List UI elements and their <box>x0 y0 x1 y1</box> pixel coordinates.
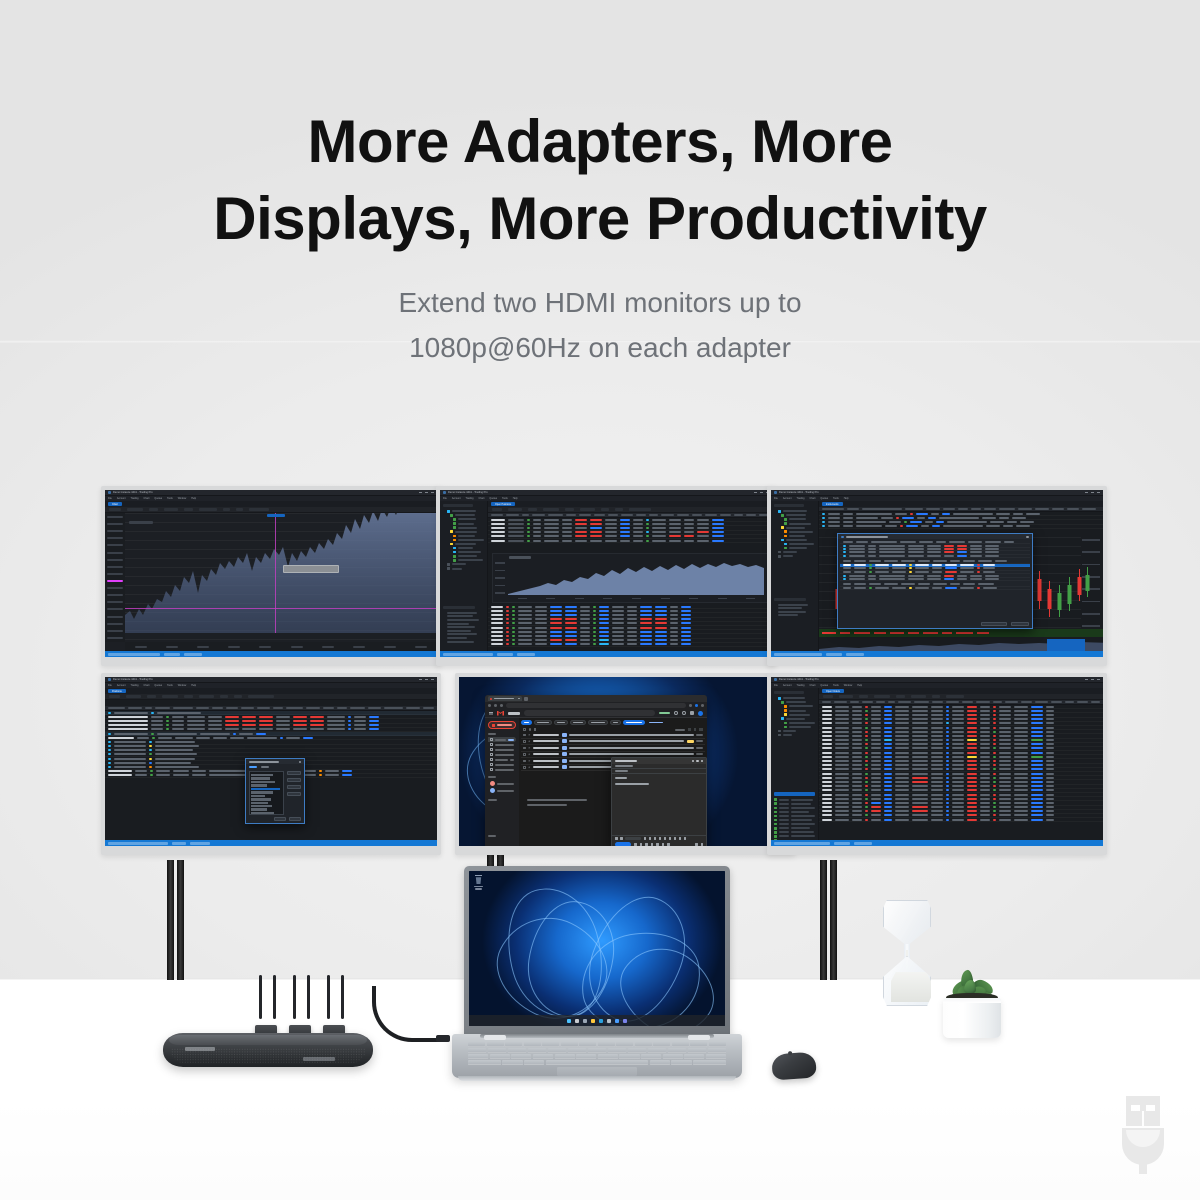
prop-row <box>443 612 484 614</box>
dialog-side-buttons[interactable] <box>287 771 301 815</box>
filter-chip-row[interactable] <box>521 720 705 725</box>
tree-item[interactable] <box>443 551 484 554</box>
tree-item[interactable] <box>774 734 815 737</box>
chat-contact[interactable] <box>488 780 516 787</box>
gmail-sidebar[interactable] <box>485 718 519 846</box>
workspace[interactable]: Open Positions <box>440 501 772 651</box>
start-icon[interactable] <box>567 1019 571 1023</box>
menu-quotes[interactable]: Quotes <box>820 497 828 500</box>
tree-item[interactable] <box>443 514 484 517</box>
positions-table-lower[interactable] <box>488 605 772 647</box>
key[interactable] <box>524 1060 544 1065</box>
apps-grid-icon[interactable] <box>690 711 694 715</box>
key[interactable] <box>568 1048 586 1053</box>
fields-listbox[interactable] <box>249 771 284 815</box>
list-item[interactable] <box>251 774 273 776</box>
chart-plot[interactable] <box>125 513 437 642</box>
navigator-panel[interactable] <box>771 501 819 651</box>
table-row[interactable] <box>819 525 1103 529</box>
list-item[interactable] <box>251 802 268 804</box>
keyboard-row[interactable] <box>468 1042 726 1047</box>
window-controls[interactable] <box>1085 679 1100 680</box>
help-icon[interactable] <box>674 711 678 715</box>
tree-item[interactable] <box>443 518 484 521</box>
status-bar <box>771 651 1103 657</box>
menu-file[interactable]: File <box>108 684 112 687</box>
menu-account[interactable]: Account <box>117 497 126 500</box>
chat-contact[interactable] <box>488 787 516 794</box>
remove-button[interactable] <box>287 778 301 782</box>
tree-item[interactable] <box>443 559 484 562</box>
compose-button[interactable] <box>488 721 516 729</box>
log-row[interactable] <box>774 827 815 830</box>
menu-trading[interactable]: Trading <box>797 684 805 687</box>
tab-open-orders[interactable]: Open Orders <box>822 689 844 693</box>
menu-quotes[interactable]: Quotes <box>489 497 497 500</box>
search-input[interactable] <box>524 710 655 716</box>
crosshair-horizontal <box>125 608 437 609</box>
key[interactable] <box>709 1042 726 1047</box>
key[interactable] <box>468 1048 486 1053</box>
table-row[interactable] <box>488 539 772 543</box>
orders-table-panel[interactable] <box>105 700 437 840</box>
browser-tab-bar[interactable] <box>485 695 707 702</box>
usb-connector-icon <box>1106 1094 1180 1178</box>
prop-row <box>774 614 815 616</box>
menu-help[interactable]: Help <box>191 684 196 687</box>
compose-body[interactable] <box>612 774 706 788</box>
log-row[interactable] <box>774 802 815 805</box>
equity-area-series <box>508 561 764 595</box>
browser-tab-gmail[interactable] <box>488 696 522 701</box>
tree-item[interactable] <box>774 522 815 525</box>
group-summary-dialog[interactable] <box>245 758 305 824</box>
menu-trading[interactable]: Trading <box>797 497 805 500</box>
key[interactable] <box>548 1048 566 1053</box>
next-page-icon[interactable] <box>694 728 697 731</box>
table-row[interactable] <box>488 643 772 647</box>
key[interactable] <box>490 1054 510 1059</box>
monitor-bottom-left[interactable]: Demo Instance 4441 - Trading Pro File Ac… <box>101 673 441 855</box>
monitor-top-left[interactable]: Demo Instance 4441 - Trading Pro File Ac… <box>101 486 441 666</box>
windows-taskbar[interactable] <box>469 1015 725 1026</box>
tree-item[interactable] <box>774 722 815 725</box>
navigator-panel[interactable] <box>771 688 819 840</box>
underline-icon <box>659 837 662 840</box>
trading-window-tc: Demo Instance 4441 - Trading Pro File Ac… <box>440 490 772 657</box>
log-row[interactable] <box>774 835 815 838</box>
tree-item[interactable] <box>774 705 815 708</box>
spacebar[interactable] <box>546 1060 648 1065</box>
tree-item[interactable] <box>774 530 815 533</box>
tree-item[interactable] <box>443 535 484 538</box>
key[interactable] <box>641 1054 661 1059</box>
monitor-top-right-screen[interactable]: Demo Instance 4441 - Trading Pro File Ac… <box>771 490 1103 657</box>
orders-grid[interactable] <box>819 700 1103 822</box>
menu-file[interactable]: File <box>108 497 112 500</box>
key[interactable] <box>576 1054 596 1059</box>
tree-item[interactable] <box>774 535 815 538</box>
instruments-table[interactable] <box>819 507 1103 529</box>
keyboard-row[interactable] <box>468 1054 726 1059</box>
tree-item[interactable] <box>443 530 484 533</box>
list-item[interactable] <box>251 777 270 779</box>
mouse[interactable] <box>771 1051 817 1080</box>
hdmi-cable <box>307 975 310 1019</box>
key[interactable] <box>684 1054 704 1059</box>
tree-item[interactable] <box>774 551 815 554</box>
monitor-top-center[interactable]: Demo Instance 4441 - Trading Pro File Ac… <box>436 486 776 666</box>
key[interactable] <box>650 1060 670 1065</box>
key[interactable] <box>468 1054 488 1059</box>
key[interactable] <box>528 1048 546 1053</box>
store-icon[interactable] <box>607 1019 611 1023</box>
tree-item[interactable] <box>774 543 815 546</box>
positions-panel[interactable]: Open Positions <box>488 501 772 651</box>
tree-item[interactable] <box>774 526 815 529</box>
add-button[interactable] <box>287 771 301 775</box>
orders-area[interactable] <box>105 700 437 840</box>
monitor-top-right[interactable]: Demo Instance 4441 - Trading Pro File Ac… <box>767 486 1107 666</box>
chip-check-accounts[interactable] <box>534 720 552 725</box>
key[interactable] <box>598 1042 615 1047</box>
tree-item[interactable] <box>443 567 484 570</box>
list-item[interactable] <box>251 781 275 783</box>
laptop-trackpad[interactable] <box>557 1067 637 1076</box>
tab-fields[interactable] <box>249 766 257 768</box>
monitor-bottom-center-screen[interactable] <box>459 677 791 846</box>
settings-gear-icon[interactable] <box>682 711 686 715</box>
menu-file[interactable]: File <box>774 684 778 687</box>
key[interactable] <box>672 1042 689 1047</box>
equity-chart-panel[interactable] <box>492 553 768 603</box>
key[interactable] <box>508 1048 526 1053</box>
gmail-brand-label <box>508 712 520 715</box>
tree-item[interactable] <box>774 514 815 517</box>
send-button[interactable] <box>615 842 631 846</box>
menu-trading[interactable]: Trading <box>466 497 474 500</box>
instrument-panel[interactable]: Instruments <box>819 501 1103 651</box>
chip-has-attachment[interactable] <box>588 720 608 725</box>
event-log[interactable] <box>774 798 815 846</box>
sidebar-item-more[interactable] <box>488 767 516 772</box>
list-item[interactable] <box>251 808 267 810</box>
window-controls[interactable] <box>419 492 434 493</box>
recycle-bin-icon[interactable] <box>474 875 483 890</box>
tree-item[interactable] <box>774 717 815 720</box>
reload-icon[interactable] <box>500 704 503 707</box>
tree-item[interactable] <box>774 518 815 521</box>
log-row[interactable] <box>774 819 815 822</box>
chip-all[interactable] <box>521 720 532 725</box>
menu-tools[interactable]: Tools <box>167 684 173 687</box>
lock-icon <box>662 843 665 846</box>
menu-quotes[interactable]: Quotes <box>154 684 162 687</box>
prop-row <box>443 619 484 621</box>
key[interactable] <box>542 1042 559 1047</box>
key[interactable] <box>511 1054 531 1059</box>
key[interactable] <box>688 1048 706 1053</box>
cancel-button[interactable] <box>1011 622 1029 626</box>
menu-account[interactable]: Account <box>783 684 792 687</box>
key[interactable] <box>668 1048 686 1053</box>
menu-window[interactable]: Window <box>844 684 853 687</box>
tree-item[interactable] <box>443 510 484 513</box>
menu-chart[interactable]: Chart <box>144 497 150 500</box>
font-size-icon <box>644 837 647 840</box>
key[interactable] <box>693 1060 726 1065</box>
tree-item[interactable] <box>774 510 815 513</box>
list-item-selected[interactable] <box>251 788 280 791</box>
menu-window[interactable]: Window <box>178 497 187 500</box>
tree-item[interactable] <box>443 539 484 542</box>
new-tab-button[interactable] <box>524 697 528 701</box>
key[interactable] <box>579 1042 596 1047</box>
monitor-bottom-left-screen[interactable]: Demo Instance 4441 - Trading Pro File Ac… <box>105 677 437 846</box>
log-row[interactable] <box>774 798 815 801</box>
large-options-dialog[interactable] <box>837 533 1033 629</box>
key[interactable] <box>588 1048 606 1053</box>
key[interactable] <box>533 1054 553 1059</box>
log-row[interactable] <box>774 831 815 834</box>
chart-canvas[interactable] <box>105 513 437 651</box>
dialog-row[interactable] <box>840 587 1030 591</box>
key[interactable] <box>468 1042 485 1047</box>
key[interactable] <box>628 1048 646 1053</box>
menu-file[interactable]: File <box>774 497 778 500</box>
key[interactable] <box>708 1048 726 1053</box>
chip-archive[interactable] <box>570 720 586 725</box>
monitor-top-center-screen[interactable]: Demo Instance 4441 - Trading Pro File Ac… <box>440 490 772 657</box>
key[interactable] <box>468 1060 501 1065</box>
teams-icon[interactable] <box>623 1019 627 1023</box>
menu-account[interactable]: Account <box>117 684 126 687</box>
key[interactable] <box>671 1060 691 1065</box>
key[interactable] <box>648 1048 666 1053</box>
menu-tools[interactable]: Tools <box>833 497 839 500</box>
usb-c-connector <box>436 1035 450 1042</box>
tree-item[interactable] <box>774 555 815 558</box>
menu-chart[interactable]: Chart <box>144 684 150 687</box>
list-item[interactable] <box>251 812 274 814</box>
menu-window[interactable]: Window <box>178 684 187 687</box>
key[interactable] <box>608 1048 626 1053</box>
key[interactable] <box>488 1048 506 1053</box>
window-controls[interactable] <box>1085 492 1100 493</box>
cancel-button[interactable] <box>289 817 301 821</box>
log-row[interactable] <box>774 815 815 818</box>
edge-icon[interactable] <box>599 1019 603 1023</box>
menu-chart[interactable]: Chart <box>479 497 485 500</box>
table-row[interactable] <box>819 818 1103 822</box>
prev-page-icon[interactable] <box>688 728 691 731</box>
tree-item[interactable] <box>443 543 484 546</box>
monitor-bottom-center[interactable] <box>455 673 795 855</box>
hdmi-cable <box>293 975 296 1019</box>
gmail-header[interactable] <box>485 709 707 718</box>
menu-tools[interactable]: Tools <box>502 497 508 500</box>
drive-icon <box>651 843 654 846</box>
tab-chart[interactable]: Chart <box>108 502 122 506</box>
tab-instruments[interactable]: Instruments <box>822 502 843 506</box>
profile-avatar[interactable] <box>695 704 698 707</box>
menu-account[interactable]: Account <box>452 497 461 500</box>
menu-quotes[interactable]: Quotes <box>154 497 162 500</box>
tree-item[interactable] <box>774 713 815 716</box>
pencil-icon <box>492 724 495 727</box>
dialog-buttons[interactable] <box>981 622 1029 626</box>
key[interactable] <box>598 1054 618 1059</box>
dialog-content[interactable] <box>246 768 304 818</box>
select-all-checkbox[interactable] <box>523 728 526 731</box>
back-icon[interactable] <box>488 704 491 707</box>
explorer-icon[interactable] <box>591 1019 595 1023</box>
chip-to[interactable] <box>610 720 621 725</box>
window-title: Demo Instance 4441 - Trading Pro <box>779 491 819 494</box>
tree-item[interactable] <box>443 522 484 525</box>
menu-quotes[interactable]: Quotes <box>820 684 828 687</box>
dialog-footer-buttons[interactable] <box>274 817 301 821</box>
monitor-bottom-right-screen[interactable]: Demo Instance 4441 - Trading Pro File Ac… <box>771 677 1103 846</box>
laptop-keyboard[interactable] <box>468 1042 726 1065</box>
tree-item[interactable] <box>443 526 484 529</box>
key[interactable] <box>487 1042 504 1047</box>
menu-chart[interactable]: Chart <box>810 497 816 500</box>
menu-icon[interactable] <box>701 704 704 707</box>
dialog-title <box>846 536 888 538</box>
list-item[interactable] <box>251 798 271 800</box>
key[interactable] <box>690 1042 707 1047</box>
orders-grid-panel[interactable]: Open Orders <box>819 688 1103 840</box>
down-button[interactable] <box>287 792 301 796</box>
monitor-top-left-screen[interactable]: Demo Instance 4441 - Trading Pro File Ac… <box>105 490 437 657</box>
key[interactable] <box>663 1054 683 1059</box>
key[interactable] <box>706 1054 726 1059</box>
laptop-wallpaper <box>469 871 725 1026</box>
search-icon[interactable] <box>575 1019 579 1023</box>
tab-order[interactable] <box>261 766 269 768</box>
hamburger-icon[interactable] <box>489 712 493 715</box>
key[interactable] <box>524 1042 541 1047</box>
menu-tools[interactable]: Tools <box>167 497 173 500</box>
tree-item[interactable] <box>774 730 815 733</box>
up-button[interactable] <box>287 785 301 789</box>
tree-item[interactable] <box>774 539 815 542</box>
monitor-bottom-right[interactable]: Demo Instance 4441 - Trading Pro File Ac… <box>767 673 1107 855</box>
workspace[interactable]: Open Orders <box>771 688 1103 840</box>
chrome-browser-window[interactable] <box>485 695 707 846</box>
tree-item[interactable] <box>443 555 484 558</box>
dialog-row[interactable] <box>840 555 1030 558</box>
dialog-row[interactable] <box>840 578 1030 581</box>
widgets-icon[interactable] <box>583 1019 587 1023</box>
chip-print[interactable] <box>554 720 568 725</box>
positions-table-upper[interactable] <box>488 513 772 543</box>
usb-docking-station[interactable] <box>163 1025 373 1069</box>
succulent-plant <box>935 962 1009 1038</box>
extensions-icon[interactable] <box>689 704 692 707</box>
list-item[interactable] <box>251 784 267 786</box>
price-chart[interactable] <box>105 513 437 651</box>
menu-account[interactable]: Account <box>783 497 792 500</box>
menu-chart[interactable]: Chart <box>810 684 816 687</box>
dialog-body[interactable] <box>838 539 1032 592</box>
chart-area[interactable] <box>105 513 437 651</box>
chip-snooze-timestamp[interactable] <box>623 720 645 725</box>
list-item[interactable] <box>251 791 273 793</box>
menu-file[interactable]: File <box>443 497 447 500</box>
key[interactable] <box>502 1060 522 1065</box>
sidebar-section-meet <box>488 835 496 837</box>
chip-advanced-search[interactable] <box>647 720 665 725</box>
keyboard-row[interactable] <box>468 1060 726 1065</box>
tree-item[interactable] <box>774 726 815 729</box>
log-row[interactable] <box>774 807 815 810</box>
key[interactable] <box>555 1054 575 1059</box>
laptop[interactable] <box>452 866 742 1101</box>
tree-item[interactable] <box>774 547 815 550</box>
key[interactable] <box>505 1042 522 1047</box>
account-avatar[interactable] <box>698 711 703 716</box>
key[interactable] <box>619 1054 639 1059</box>
window-controls[interactable] <box>419 679 434 680</box>
navigator-panel[interactable] <box>440 501 488 651</box>
tree-item[interactable] <box>774 697 815 700</box>
log-row[interactable] <box>774 811 815 814</box>
new-strategy-button[interactable] <box>981 622 1007 626</box>
tree-item[interactable] <box>443 547 484 550</box>
address-bar[interactable] <box>506 703 686 708</box>
tree-item[interactable] <box>443 563 484 566</box>
prop-row <box>443 623 484 625</box>
dock-body[interactable] <box>163 1033 373 1067</box>
refresh-icon[interactable] <box>529 728 532 731</box>
mail-icon[interactable] <box>615 1019 619 1023</box>
font-select[interactable] <box>625 837 641 840</box>
key[interactable] <box>616 1042 633 1047</box>
keyboard-row[interactable] <box>468 1048 726 1053</box>
tab-positions[interactable]: Positions <box>108 689 126 693</box>
menu-trading[interactable]: Trading <box>131 497 139 500</box>
key[interactable] <box>561 1042 578 1047</box>
menu-help[interactable]: Help <box>513 497 518 500</box>
list-item[interactable] <box>251 805 272 807</box>
tree-item[interactable] <box>774 701 815 704</box>
list-item[interactable] <box>251 795 265 797</box>
settings-view-icon[interactable] <box>699 728 703 731</box>
overflow-icon[interactable] <box>534 728 536 731</box>
menu-trading[interactable]: Trading <box>131 684 139 687</box>
menu-help[interactable]: Help <box>191 497 196 500</box>
workspace[interactable]: Instruments <box>771 501 1103 651</box>
laptop-front-edge <box>458 1076 736 1081</box>
ok-button[interactable] <box>274 817 286 821</box>
omnibox-bar[interactable] <box>485 702 707 709</box>
key[interactable] <box>653 1042 670 1047</box>
menu-tools[interactable]: Tools <box>833 684 839 687</box>
tab-open-positions[interactable]: Open Positions <box>491 502 515 506</box>
tree-item[interactable] <box>774 709 815 712</box>
compose-send-bar[interactable] <box>612 841 706 846</box>
laptop-screen[interactable] <box>469 871 725 1026</box>
key[interactable] <box>635 1042 652 1047</box>
forward-icon[interactable] <box>494 704 497 707</box>
menu-help[interactable]: Help <box>844 497 849 500</box>
log-row[interactable] <box>774 823 815 826</box>
menu-help[interactable]: Help <box>857 684 862 687</box>
compose-window[interactable] <box>611 757 707 846</box>
prop-row <box>774 604 815 606</box>
